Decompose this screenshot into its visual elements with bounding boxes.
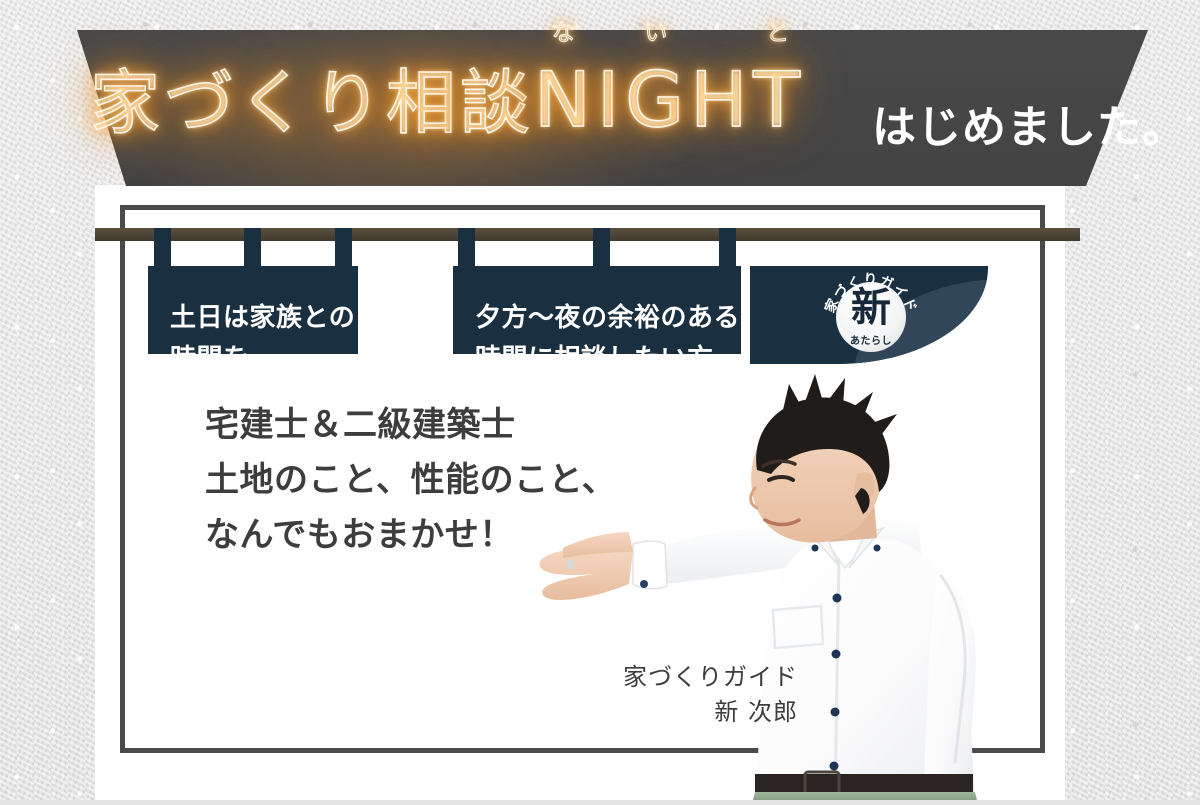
- neon-glyph-3: り: [310, 62, 384, 144]
- neon-glyph-0: 家: [88, 62, 162, 144]
- neon-char-0: 家: [88, 68, 162, 138]
- neon-headline: 家づくり相談なNIいGHとT: [88, 62, 804, 138]
- neon-glyph-7: I: [595, 55, 623, 144]
- neon-char-7: I: [595, 62, 623, 138]
- noren-tab: [593, 228, 610, 268]
- neon-ruby-8: い: [644, 22, 667, 45]
- neon-glyph-1: づ: [162, 62, 236, 144]
- neon-char-10: とT: [751, 62, 803, 138]
- neon-char-6: なN: [532, 62, 595, 138]
- noren-panel-3: 家づくりガイド 新 あたらし: [750, 266, 988, 364]
- noren-tab: [335, 228, 352, 268]
- noren-panel-2-text: 夕方〜夜の余裕のある 時間に相談したい方: [475, 298, 740, 379]
- neon-glyph-6: N: [532, 55, 595, 144]
- neon-char-2: く: [236, 68, 310, 138]
- guide-signature: 家づくりガイド 新 次郎: [500, 660, 798, 730]
- neon-ruby-10: と: [766, 22, 789, 45]
- neon-glyph-8: G: [623, 55, 688, 144]
- noren-tab: [458, 228, 475, 268]
- logo-kanji: 新: [836, 288, 906, 328]
- neon-char-3: り: [310, 68, 384, 138]
- neon-char-5: 談: [458, 68, 532, 138]
- noren-panel-1: 土日は家族との時間を 大切にしたい方: [148, 266, 358, 354]
- neon-glyph-4: 相: [384, 62, 458, 144]
- noren-tab: [754, 266, 771, 268]
- noren-tab: [933, 266, 950, 268]
- headline-suffix: はじめました。: [872, 106, 1187, 150]
- neon-char-1: づ: [162, 68, 236, 138]
- neon-glyph-2: く: [236, 62, 310, 144]
- promo-banner-stage: 土日は家族との時間を 大切にしたい方 夕方〜夜の余裕のある 時間に相談したい方 …: [0, 0, 1200, 800]
- neon-char-9: H: [688, 62, 751, 138]
- noren-panel-2: 夕方〜夜の余裕のある 時間に相談したい方: [453, 266, 741, 354]
- noren-tab: [154, 228, 171, 268]
- noren-rod: [95, 228, 1080, 241]
- body-copy: 宅建士＆二級建築士 土地のこと、性能のこと、 なんでもおまかせ！: [205, 398, 616, 563]
- neon-ruby-6: な: [552, 22, 575, 45]
- neon-glyph-10: T: [751, 55, 803, 144]
- neon-glyph-9: H: [688, 55, 751, 144]
- brand-logo-badge: 家づくりガイド 新 あたらし: [836, 282, 906, 352]
- noren-tab: [719, 228, 736, 268]
- neon-char-8: いG: [623, 62, 688, 138]
- neon-char-4: 相: [384, 68, 458, 138]
- noren-tab: [244, 228, 261, 268]
- neon-glyph-5: 談: [458, 62, 532, 144]
- logo-reading: あたらし: [836, 332, 906, 347]
- headline-banner: 家づくり相談なNIいGHとT はじめました。: [0, 0, 1200, 190]
